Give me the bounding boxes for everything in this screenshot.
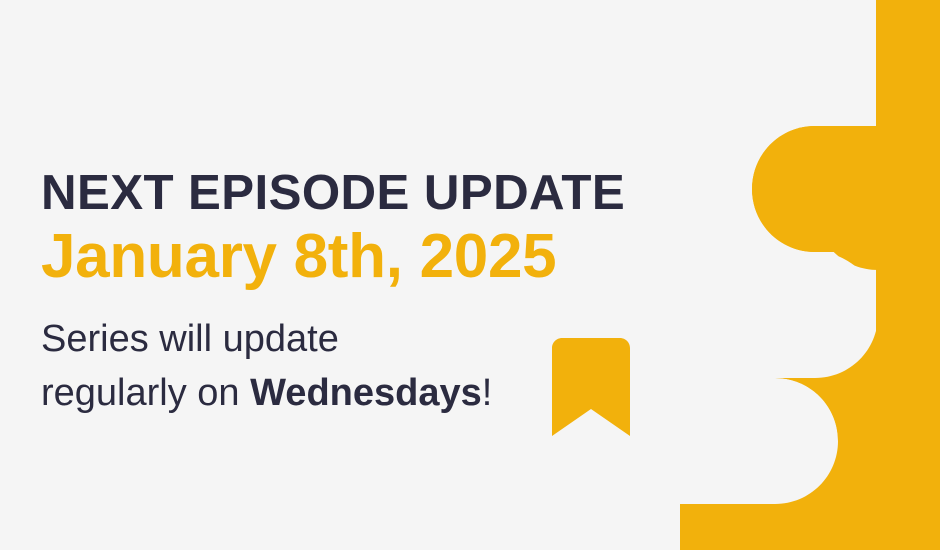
wave-decoration xyxy=(680,0,940,550)
subtitle-line-2-prefix: regularly on xyxy=(41,372,250,414)
announcement-banner: NEXT EPISODE UPDATE January 8th, 2025 Se… xyxy=(0,0,940,550)
subtitle-line-1: Series will update xyxy=(41,318,339,360)
bookmark-icon xyxy=(552,338,630,436)
subtitle-emphasis-weekday: Wednesdays xyxy=(250,372,482,414)
subtitle-line-2-suffix: ! xyxy=(482,372,493,414)
page-title: NEXT EPISODE UPDATE xyxy=(41,168,704,220)
episode-date: January 8th, 2025 xyxy=(41,224,701,291)
subtitle: Series will update regularly on Wednesda… xyxy=(41,313,541,421)
